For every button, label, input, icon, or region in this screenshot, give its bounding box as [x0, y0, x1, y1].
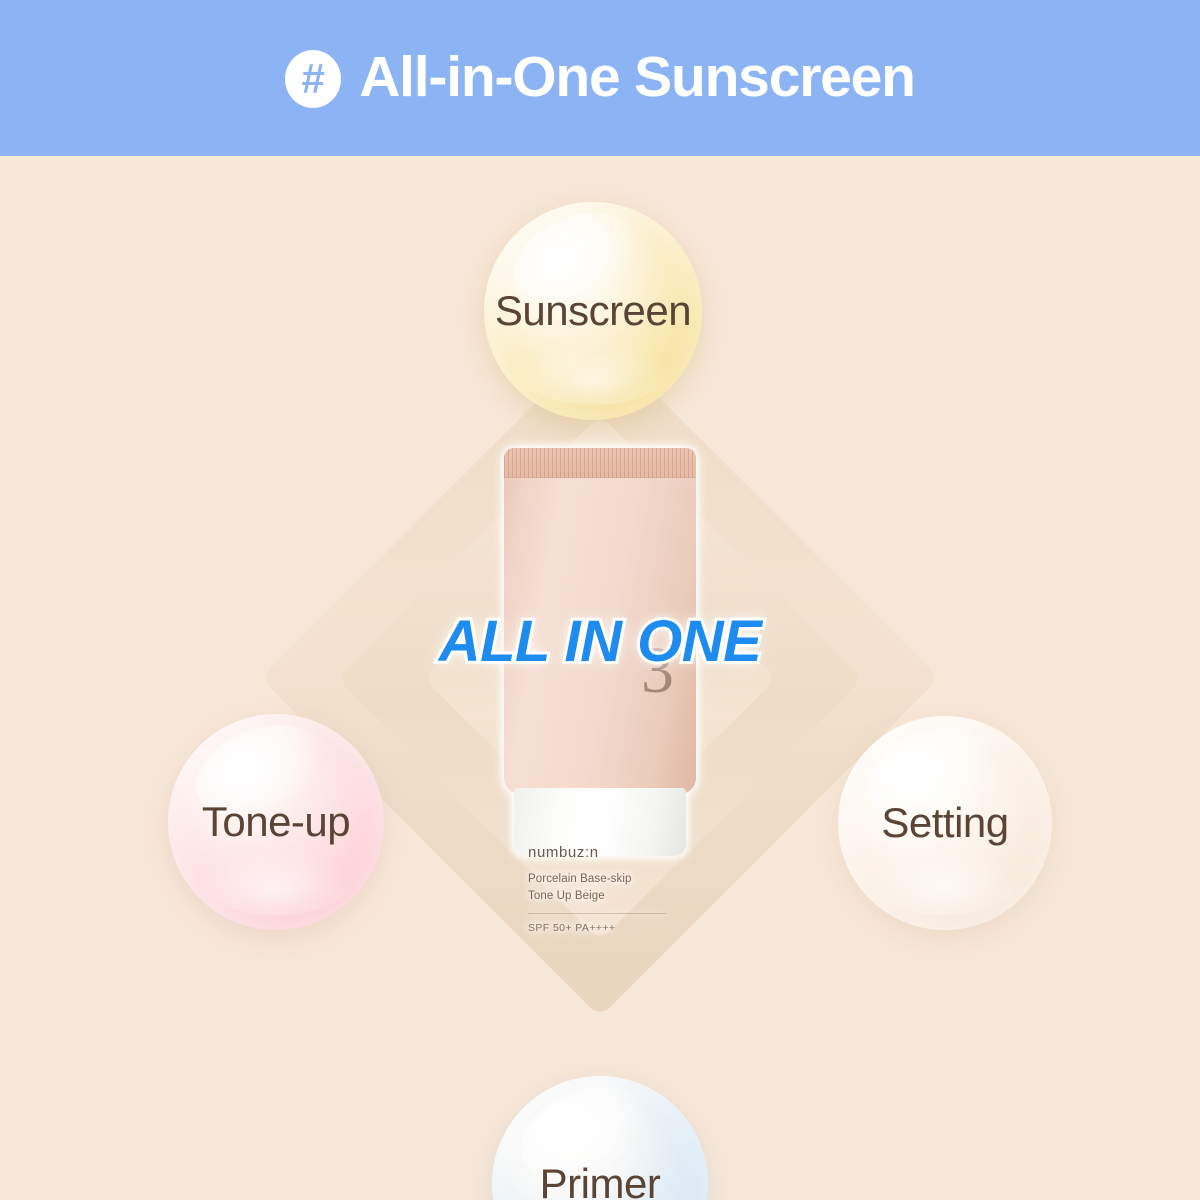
label-divider	[528, 913, 666, 914]
bubble-label-setting: Setting	[881, 799, 1008, 847]
bubble-label-tone-up: Tone-up	[202, 798, 350, 846]
page-title: All-in-One Sunscreen	[359, 44, 915, 110]
product-label-block: numbuz:n Porcelain Base-skip Tone Up Bei…	[528, 844, 678, 934]
product-spf: SPF 50+ PA++++	[528, 922, 678, 934]
brand-name: numbuz:n	[528, 844, 678, 861]
all-in-one-headline: ALL IN ONE	[0, 608, 1200, 675]
bubble-setting: Setting	[838, 716, 1052, 930]
bubble-sunscreen: Sunscreen	[484, 202, 702, 420]
content-stage: Sunscreen Tone-up Setting Primer 3 numbu…	[0, 156, 1200, 1200]
product-name-line2: Tone Up Beige	[528, 888, 678, 905]
hashtag-icon: #	[285, 50, 341, 108]
bubble-label-sunscreen: Sunscreen	[495, 287, 691, 335]
bubble-tone-up: Tone-up	[168, 714, 384, 930]
bubble-primer: Primer	[492, 1076, 708, 1200]
header-bar: # All-in-One Sunscreen	[0, 0, 1200, 156]
tube-crimp-seal	[504, 448, 696, 478]
product-name-line1: Porcelain Base-skip	[528, 871, 678, 888]
bubble-label-primer: Primer	[540, 1160, 661, 1200]
